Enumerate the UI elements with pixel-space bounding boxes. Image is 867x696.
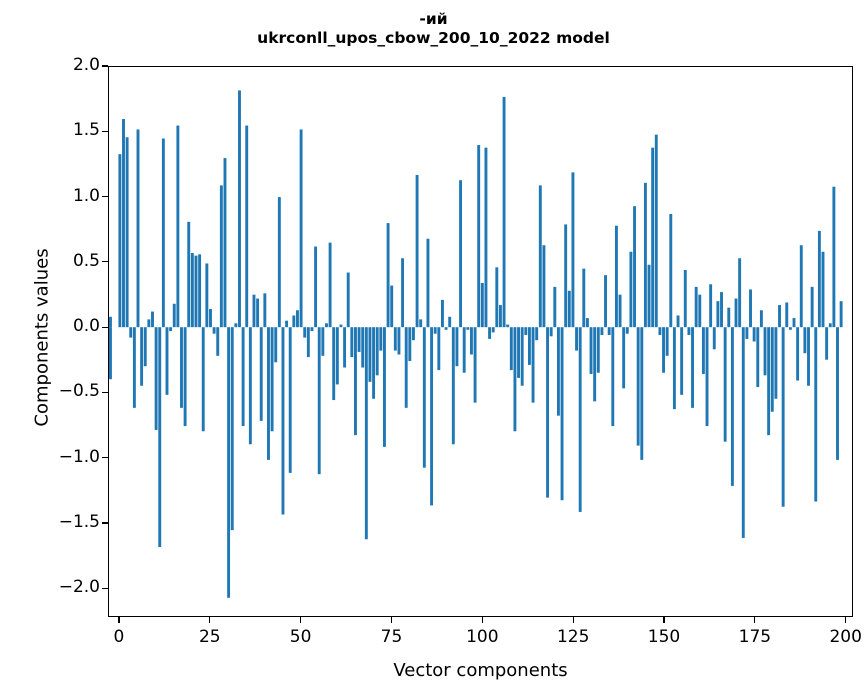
bar-series-canvas xyxy=(109,67,852,616)
y-tick-label: 0.0 xyxy=(12,316,100,336)
chart-title: -ий ukrconll_upos_cbow_200_10_2022 model xyxy=(0,10,867,49)
y-tick-label: −1.5 xyxy=(12,512,100,532)
x-tick-mark xyxy=(391,617,392,623)
x-tick-label: 150 xyxy=(624,627,704,647)
y-tick-label: 2.0 xyxy=(12,55,100,75)
x-tick-label: 100 xyxy=(442,627,522,647)
y-tick-label: 1.0 xyxy=(12,186,100,206)
x-tick-mark xyxy=(209,617,210,623)
plot-area xyxy=(108,66,853,617)
x-tick-label: 175 xyxy=(715,627,795,647)
x-axis-label: Vector components xyxy=(108,660,853,681)
x-tick-label: 125 xyxy=(533,627,613,647)
chart-title-line-1: -ий xyxy=(0,10,867,29)
x-tick-mark xyxy=(845,617,846,623)
x-tick-mark xyxy=(754,617,755,623)
x-tick-mark xyxy=(663,617,664,623)
x-tick-mark xyxy=(300,617,301,623)
y-tick-label: 0.5 xyxy=(12,251,100,271)
chart-title-line-2: ukrconll_upos_cbow_200_10_2022 model xyxy=(0,29,867,48)
x-tick-label: 50 xyxy=(261,627,341,647)
chart-figure: -ий ukrconll_upos_cbow_200_10_2022 model… xyxy=(0,0,867,696)
x-tick-mark xyxy=(482,617,483,623)
x-tick-label: 200 xyxy=(806,627,867,647)
x-tick-label: 25 xyxy=(170,627,250,647)
y-tick-label: 1.5 xyxy=(12,120,100,140)
x-tick-label: 75 xyxy=(352,627,432,647)
x-tick-label: 0 xyxy=(79,627,159,647)
y-tick-label: −2.0 xyxy=(12,577,100,597)
x-tick-mark xyxy=(573,617,574,623)
y-tick-label: −0.5 xyxy=(12,381,100,401)
y-tick-label: −1.0 xyxy=(12,447,100,467)
x-tick-mark xyxy=(118,617,119,623)
